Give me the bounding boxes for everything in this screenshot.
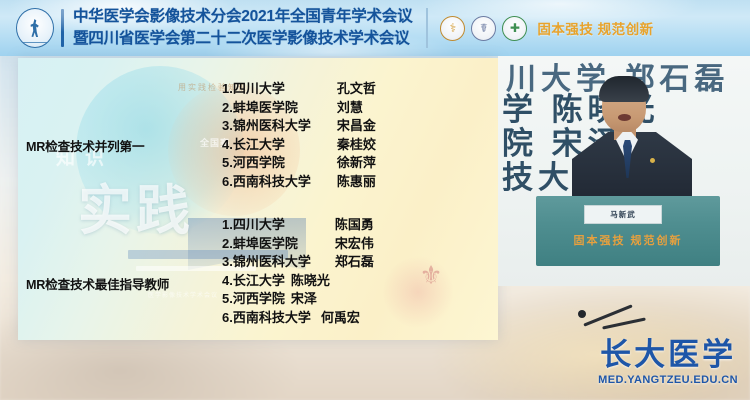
watermark-url: MED.YANGTZEU.EDU.CN	[598, 374, 738, 386]
podium-slogan: 固本强技 规范创新	[536, 232, 720, 248]
speaker-lapel-pin	[650, 158, 655, 163]
award-index: 2.	[222, 235, 233, 254]
award-recipient: 陈晓光	[291, 272, 330, 291]
header-title-line-1: 中华医学会影像技术分会2021年全国青年学术会议	[73, 6, 412, 28]
award-recipient: 郑石磊	[335, 253, 374, 272]
podium: 马新武 固本强技 规范创新	[536, 196, 720, 266]
award-recipient: 宋宏伟	[335, 235, 374, 254]
award-row: 5. 河西学院 宋泽	[222, 290, 374, 309]
speaker-nameplate: 马新武	[584, 205, 662, 224]
award-row: 1. 四川大学 陈国勇	[222, 216, 374, 235]
award-category-label-2: MR检查技术最佳指导教师	[26, 274, 169, 293]
award-recipient: 何禹宏	[321, 309, 360, 328]
award-row: 6. 西南科技大学 陈惠丽	[222, 173, 376, 192]
slide-decor-headline: 实践	[78, 166, 194, 245]
award-recipient: 宋泽	[291, 290, 317, 309]
award-recipient: 陈国勇	[335, 216, 374, 235]
award-category-label-1: MR检查技术并列第一	[26, 136, 144, 155]
award-index: 1.	[222, 216, 233, 235]
microphone-arm-secondary	[602, 317, 646, 329]
society-badges: ⚕ ☤ ✚	[440, 16, 527, 41]
award-organization: 蚌埠医学院	[233, 235, 335, 254]
slide-decor-shield-icon: ⚜	[418, 258, 444, 292]
award-index: 1.	[222, 80, 233, 99]
award-recipient: 徐新萍	[337, 154, 376, 173]
award-index: 3.	[222, 117, 233, 136]
award-recipient: 宋昌金	[337, 117, 376, 136]
award-index: 6.	[222, 173, 233, 192]
speaker-hair	[599, 76, 649, 102]
screen-root: 中华医学会影像技术分会2021年全国青年学术会议 暨四川省医学会第二十二次医学影…	[0, 0, 750, 400]
award-index: 3.	[222, 253, 233, 272]
award-index: 4.	[222, 272, 233, 291]
stage-scene: 川大学 郑石磊 学 陈晓光 院 宋泽 技大学 马新武 固本强技 规范创新	[498, 56, 750, 346]
award-recipient: 秦桂姣	[337, 136, 376, 155]
award-organization: 四川大学	[233, 80, 337, 99]
award-list-2: 1. 四川大学 陈国勇 2. 蚌埠医学院 宋宏伟 3. 锦州医科大学 郑石磊 4…	[222, 216, 374, 327]
award-recipient: 孔文哲	[337, 80, 376, 99]
header-separator	[426, 8, 428, 48]
speaker-nameplate-text: 马新武	[610, 209, 636, 220]
microphone-head-icon	[578, 310, 586, 318]
emblem-figure-glyph	[30, 19, 41, 37]
award-index: 5.	[222, 290, 233, 309]
award-list-1: 1. 四川大学 孔文哲 2. 蚌埠医学院 刘慧 3. 锦州医科大学 宋昌金 4.…	[222, 80, 376, 191]
award-row: 1. 四川大学 孔文哲	[222, 80, 376, 99]
award-organization: 锦州医科大学	[233, 117, 337, 136]
header-title-line-2: 暨四川省医学会第二十二次医学影像技术学术会议	[73, 28, 412, 50]
award-row: 4. 长江大学 秦桂姣	[222, 136, 376, 155]
cma-badge-icon: ⚕	[440, 16, 465, 41]
award-row: 5. 河西学院 徐新萍	[222, 154, 376, 173]
award-row: 2. 蚌埠医学院 刘慧	[222, 99, 376, 118]
conference-header-banner: 中华医学会影像技术分会2021年全国青年学术会议 暨四川省医学会第二十二次医学影…	[0, 0, 750, 56]
award-recipient: 陈惠丽	[337, 173, 376, 192]
presentation-slide: ⚜ 用实践检验知识 知识 全国赛 实践 医学影像技术学术会议 MR检查技术并列第…	[18, 58, 498, 340]
award-row: 4. 长江大学 陈晓光	[222, 272, 374, 291]
award-organization: 长江大学	[233, 272, 285, 291]
award-organization: 西南科技大学	[233, 309, 311, 328]
award-organization: 长江大学	[233, 136, 337, 155]
header-slogan: 固本强技 规范创新	[537, 18, 653, 38]
award-index: 5.	[222, 154, 233, 173]
award-row: 6. 西南科技大学 何禹宏	[222, 309, 374, 328]
award-index: 2.	[222, 99, 233, 118]
speaker-mouth	[618, 114, 631, 121]
header-divider	[61, 9, 64, 47]
award-organization: 锦州医科大学	[233, 253, 335, 272]
award-row: 2. 蚌埠医学院 宋宏伟	[222, 235, 374, 254]
award-row: 3. 锦州医科大学 郑石磊	[222, 253, 374, 272]
header-title-group: 中华医学会影像技术分会2021年全国青年学术会议 暨四川省医学会第二十二次医学影…	[73, 6, 412, 49]
watermark: 长大医学 MED.YANGTZEU.EDU.CN	[598, 339, 738, 386]
award-organization: 西南科技大学	[233, 173, 337, 192]
watermark-title: 长大医学	[598, 339, 738, 372]
conference-emblem-icon	[16, 8, 54, 48]
award-index: 6.	[222, 309, 233, 328]
award-row: 3. 锦州医科大学 宋昌金	[222, 117, 376, 136]
award-index: 4.	[222, 136, 233, 155]
conference-logo	[12, 4, 58, 52]
award-organization: 河西学院	[233, 154, 337, 173]
green-society-badge-icon: ✚	[502, 16, 527, 41]
award-organization: 蚌埠医学院	[233, 99, 337, 118]
award-organization: 河西学院	[233, 290, 285, 309]
award-recipient: 刘慧	[337, 99, 363, 118]
award-organization: 四川大学	[233, 216, 335, 235]
radiology-badge-icon: ☤	[471, 16, 496, 41]
